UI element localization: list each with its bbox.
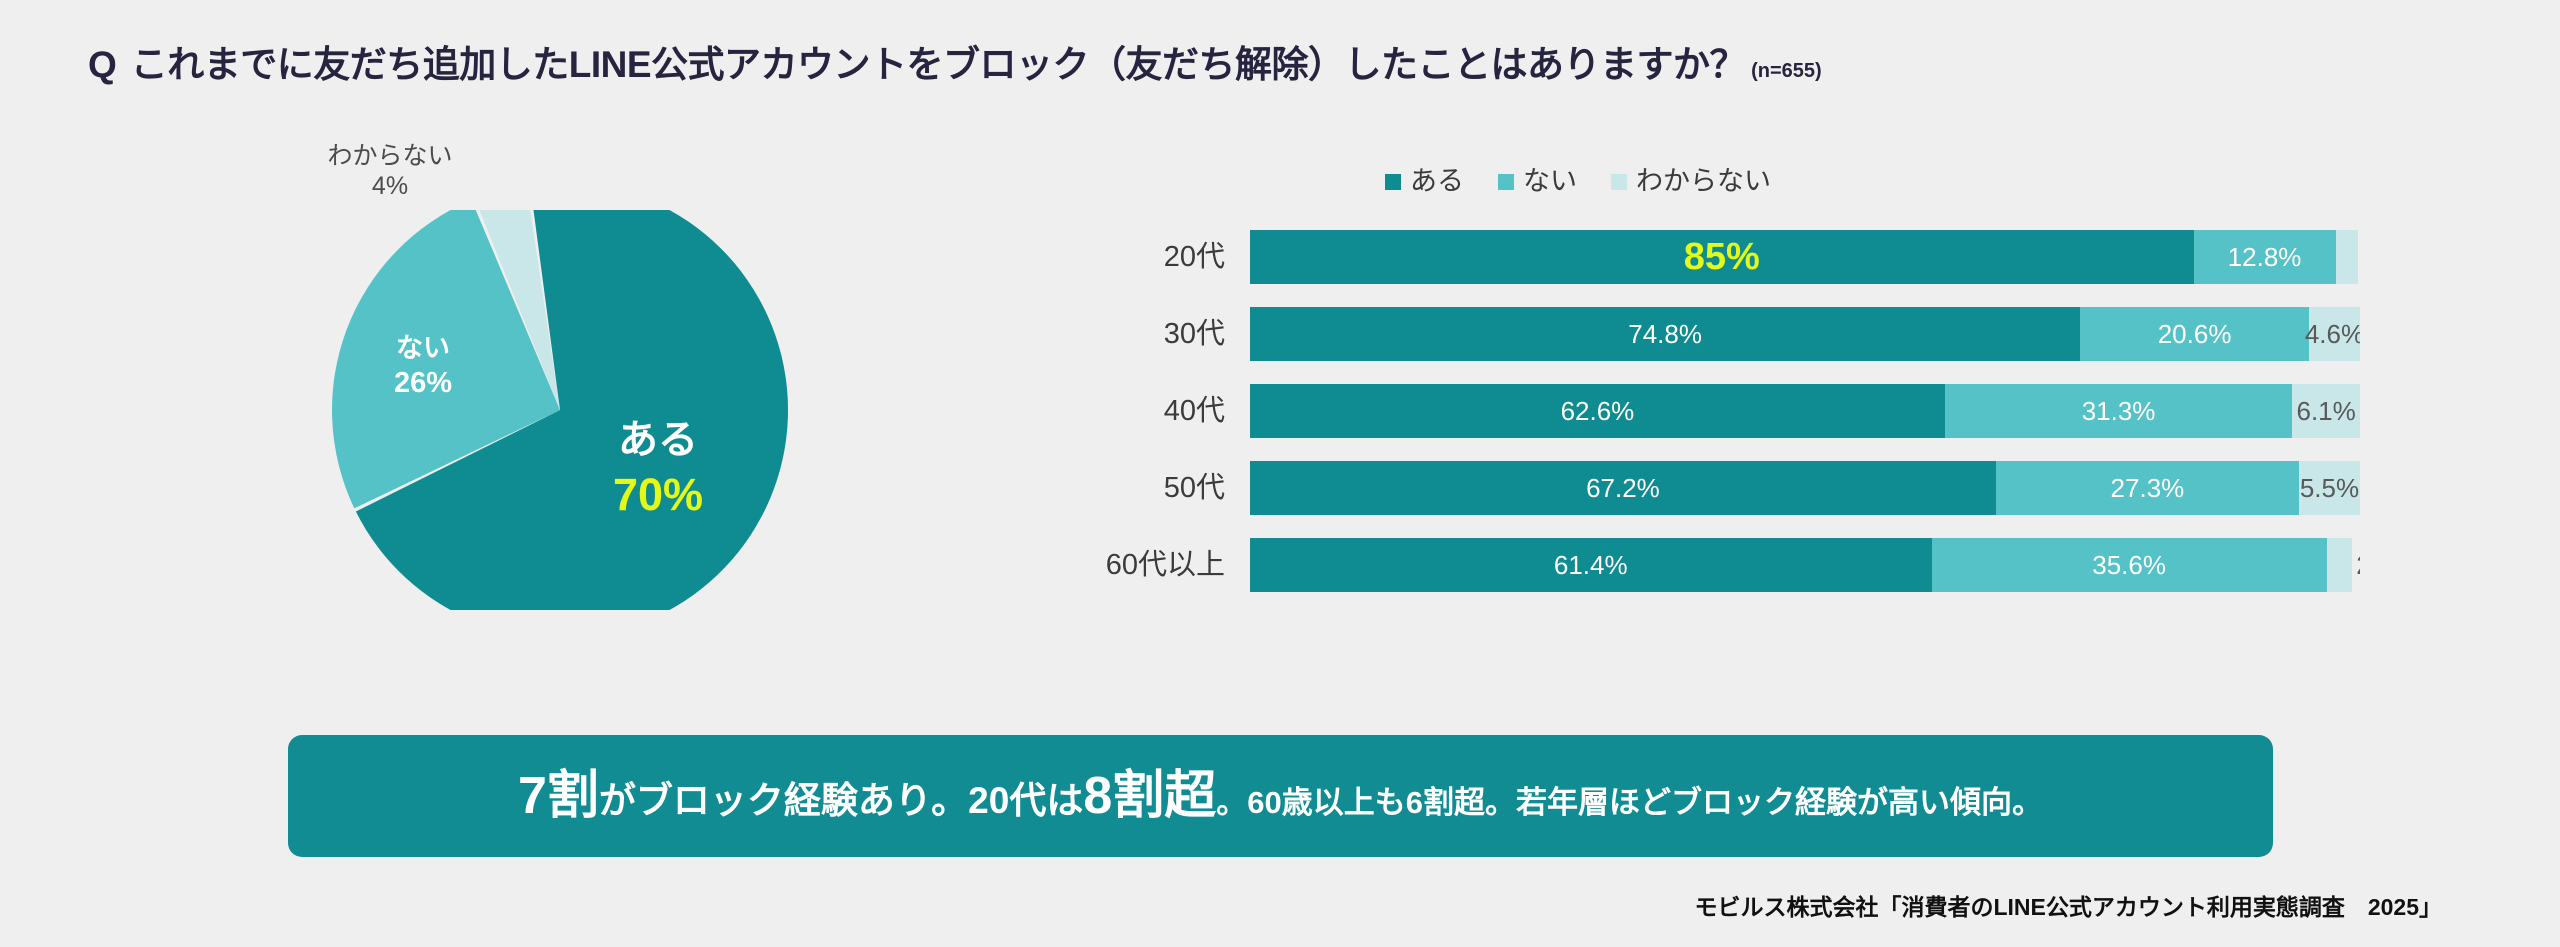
bar-chart-legend: ある ない わからない — [1385, 168, 1771, 195]
pie-label-wakaranai: わからない 4% — [285, 142, 495, 201]
bar-value-nai: 27.3% — [2111, 475, 2185, 501]
bar-segment-nai: 12.8% — [2194, 230, 2336, 284]
bar-category-label: 20代 — [1060, 243, 1250, 272]
bar-value-nai: 12.8% — [2228, 244, 2302, 270]
legend-item-nai: ない — [1498, 168, 1577, 195]
bar-segment-wakaranai: 6.1% — [2292, 384, 2360, 438]
bar-segment-nai: 35.6% — [1932, 538, 2327, 592]
page-title: Q これまでに友だち追加したLINE公式アカウントをブロック（友だち解除）したこ… — [88, 46, 1822, 83]
table-row: 40代 62.6% 31.3% 6.1% — [1060, 384, 2360, 438]
bar-category-label: 30代 — [1060, 320, 1250, 349]
question-text: これまでに友だち追加したLINE公式アカウントをブロック（友だち解除）したことは… — [131, 46, 1746, 83]
bar-category-label: 40代 — [1060, 397, 1250, 426]
square-marker-icon — [1498, 174, 1514, 190]
legend-item-aru: ある — [1385, 168, 1464, 195]
sample-size-note: (n=655) — [1746, 61, 1822, 83]
bar-value-nai: 31.3% — [2082, 398, 2156, 424]
bar-track: 85% 12.8% 2.0% — [1250, 230, 2360, 284]
table-row: 20代 85% 12.8% 2.0% — [1060, 230, 2360, 284]
bar-segment-wakaranai: 2.0% — [2336, 230, 2358, 284]
summary-banner: 7割 がブロック経験あり。20代は 8割超 。60歳以上も6割超。若年層ほどブロ… — [288, 735, 2273, 857]
bar-category-label: 50代 — [1060, 474, 1250, 503]
summary-part-4: 。60歳以上も6割超。若年層ほどブロック経験が高い傾向。 — [1216, 787, 2043, 818]
bar-value-nai: 35.6% — [2092, 552, 2166, 578]
table-row: 60代以上 61.4% 35.6% 2.3% — [1060, 538, 2360, 592]
summary-highlight-1: 7割 — [518, 770, 599, 822]
bar-segment-wakaranai: 4.6% — [2309, 307, 2360, 361]
bar-value-aru: 67.2% — [1586, 475, 1660, 501]
stacked-bar-chart: 20代 85% 12.8% 2.0% 30代 74.8% 20.6% 4.6% — [1060, 230, 2360, 615]
source-attribution: モビルス株式会社「消費者のLINE公式アカウント利用実態調査 2025」 — [1694, 896, 2442, 919]
bar-value-aru: 74.8% — [1628, 321, 1702, 347]
table-row: 30代 74.8% 20.6% 4.6% — [1060, 307, 2360, 361]
summary-highlight-2: 8割超 — [1083, 770, 1216, 822]
bar-segment-aru: 67.2% — [1250, 461, 1996, 515]
bar-segment-aru: 74.8% — [1250, 307, 2080, 361]
bar-segment-nai: 27.3% — [1996, 461, 2299, 515]
legend-label-wakaranai: わからない — [1636, 168, 1771, 195]
summary-part-2: がブロック経験あり。20代は — [599, 782, 1083, 819]
bar-segment-wakaranai: 2.3% — [2327, 538, 2353, 592]
bar-value-wakaranai: 4.6% — [2305, 321, 2360, 347]
question-marker: Q — [88, 46, 131, 83]
pie-chart: ある 70% ない 26% わからない 4% — [320, 185, 800, 615]
bar-value-wakaranai: 6.1% — [2297, 398, 2356, 424]
bar-value-aru: 61.4% — [1554, 552, 1628, 578]
bar-track: 62.6% 31.3% 6.1% — [1250, 384, 2360, 438]
legend-label-aru: ある — [1410, 168, 1464, 195]
legend-item-wakaranai: わからない — [1611, 168, 1771, 195]
bar-segment-nai: 31.3% — [1945, 384, 2292, 438]
bar-track: 74.8% 20.6% 4.6% — [1250, 307, 2360, 361]
bar-track: 67.2% 27.3% 5.5% — [1250, 461, 2360, 515]
square-marker-icon — [1385, 174, 1401, 190]
bar-value-wakaranai: 5.5% — [2300, 475, 2359, 501]
bar-segment-aru: 85% — [1250, 230, 2194, 284]
bar-value-aru: 85% — [1684, 238, 1760, 276]
bar-value-nai: 20.6% — [2158, 321, 2232, 347]
bar-track: 61.4% 35.6% 2.3% — [1250, 538, 2360, 592]
bar-value-wakaranai: 2.3% — [2356, 552, 2360, 578]
bar-value-aru: 62.6% — [1561, 398, 1635, 424]
bar-segment-nai: 20.6% — [2080, 307, 2309, 361]
summary-banner-text: 7割 がブロック経験あり。20代は 8割超 。60歳以上も6割超。若年層ほどブロ… — [518, 770, 2043, 822]
bar-segment-aru: 61.4% — [1250, 538, 1932, 592]
pie-label-wakaranai-name: わからない — [285, 142, 495, 172]
table-row: 50代 67.2% 27.3% 5.5% — [1060, 461, 2360, 515]
square-marker-icon — [1611, 174, 1627, 190]
bar-segment-wakaranai: 5.5% — [2299, 461, 2360, 515]
bar-category-label: 60代以上 — [1060, 551, 1250, 580]
pie-label-wakaranai-value: 4% — [285, 172, 495, 202]
legend-label-nai: ない — [1523, 168, 1577, 195]
pie-chart-svg — [320, 210, 800, 610]
bar-segment-aru: 62.6% — [1250, 384, 1945, 438]
